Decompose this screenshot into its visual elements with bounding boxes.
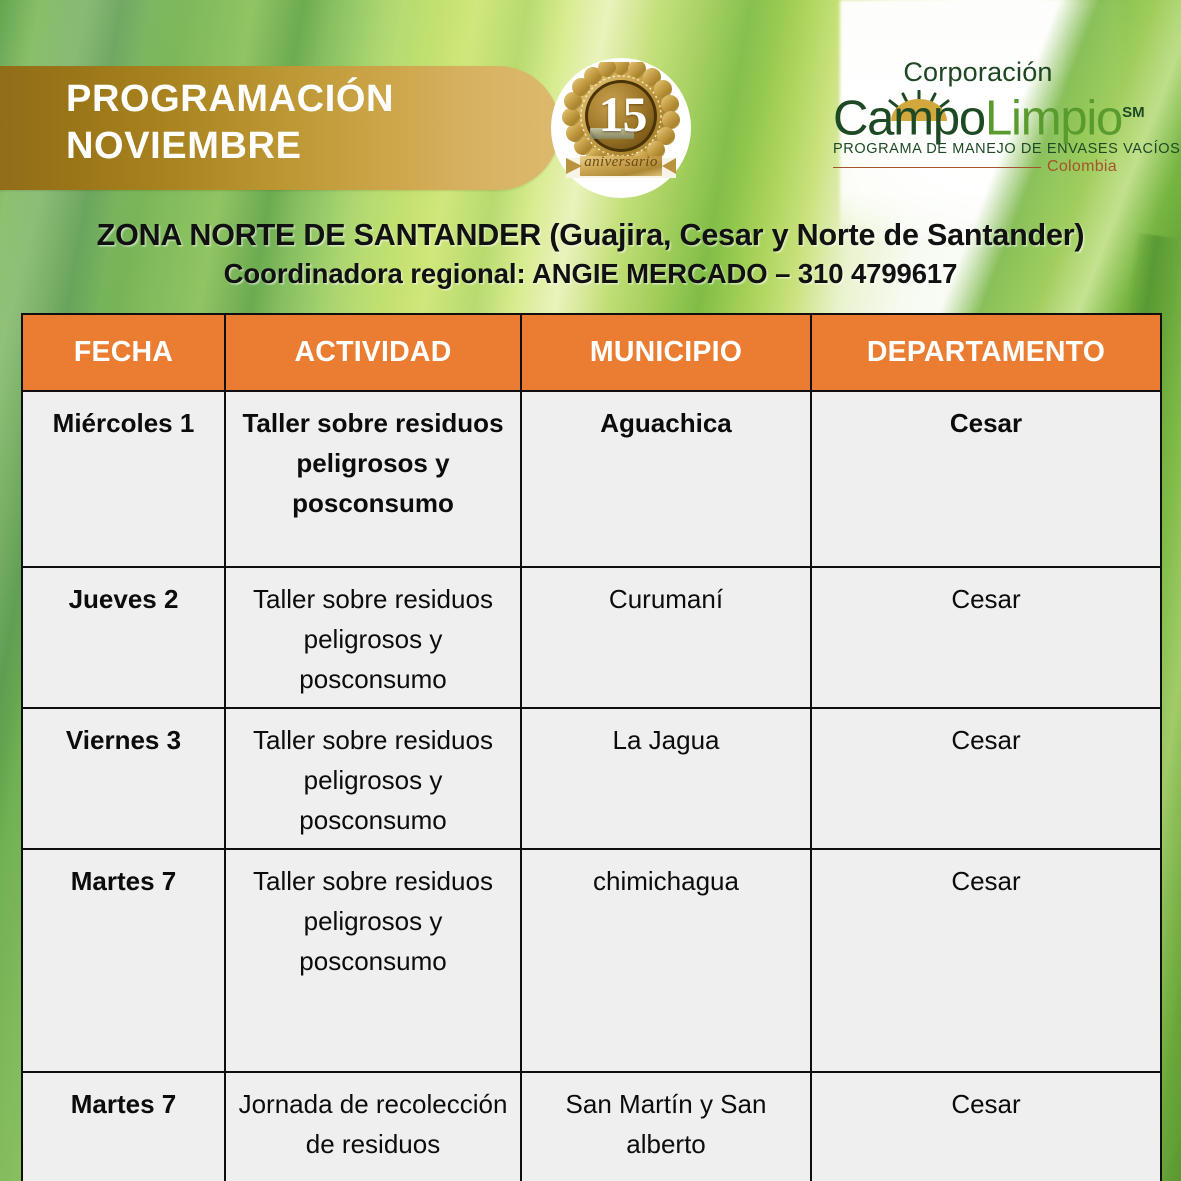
cell-departamento: Cesar [811,1072,1161,1181]
cell-municipio: chimichagua [521,849,811,1072]
cell-actividad: Taller sobre residuos peligrosos y posco… [225,849,521,1072]
page-title-line-1: PROGRAMACIÓN [66,76,536,123]
campolimpio-logo: Corporación CampoLimpioSM PROGRAMA DE MA… [833,58,1123,193]
logo-corporacion-text: Corporación [833,58,1123,86]
programacion-noviembre-poster: PROGRAMACIÓN NOVIEMBRE [0,0,1181,1181]
cell-fecha: Martes 7 [22,849,225,1072]
zone-header: ZONA NORTE DE SANTANDER (Guajira, Cesar … [0,216,1181,293]
cell-actividad: Taller sobre residuos peligrosos y posco… [225,391,521,567]
cell-fecha: Viernes 3 [22,708,225,849]
column-header-departamento[interactable]: DEPARTAMENTO [811,314,1161,391]
cell-departamento: Cesar [811,708,1161,849]
seal-caption: aniversario [558,154,684,171]
logo-country: Colombia [1047,158,1117,176]
table-header-row: FECHA ACTIVIDAD MUNICIPIO DEPARTAMENTO [22,314,1161,391]
cell-municipio: La Jagua [521,708,811,849]
cell-departamento: Cesar [811,567,1161,708]
cell-fecha: Jueves 2 [22,567,225,708]
cell-municipio: Curumaní [521,567,811,708]
page-title: PROGRAMACIÓN NOVIEMBRE [66,76,536,170]
column-header-actividad[interactable]: ACTIVIDAD [225,314,521,391]
logo-country-row: Colombia [833,158,1123,176]
page-title-line-2: NOVIEMBRE [66,123,536,170]
table-row[interactable]: Jueves 2 Taller sobre residuos peligroso… [22,567,1161,708]
cell-actividad: Taller sobre residuos peligrosos y posco… [225,567,521,708]
cell-municipio: Aguachica [521,391,811,567]
logo-trademark: SM [1122,104,1145,121]
cell-fecha: Martes 7 [22,1072,225,1181]
logo-divider [833,167,1041,169]
table-row[interactable]: Martes 7 Taller sobre residuos peligroso… [22,849,1161,1072]
cell-fecha: Miércoles 1 [22,391,225,567]
cell-municipio: San Martín y San alberto [521,1072,811,1181]
table-row[interactable]: Viernes 3 Taller sobre residuos peligros… [22,708,1161,849]
logo-word-campo: Campo [833,91,985,145]
cell-departamento: Cesar [811,391,1161,567]
cell-departamento: Cesar [811,849,1161,1072]
column-header-municipio[interactable]: MUNICIPIO [521,314,811,391]
anniversary-seal: 15 aniversario [558,62,684,192]
cell-actividad: Jornada de recolección de residuos [225,1072,521,1181]
cell-actividad: Taller sobre residuos peligrosos y posco… [225,708,521,849]
logo-word-limpio: Limpio [985,91,1122,145]
coordinator-line: Coordinadora regional: ANGIE MERCADO – 3… [0,255,1181,293]
zone-title: ZONA NORTE DE SANTANDER (Guajira, Cesar … [0,216,1181,255]
logo-wordmark: CampoLimpioSM [833,88,1123,143]
table-row[interactable]: Miércoles 1 Taller sobre residuos peligr… [22,391,1161,567]
schedule-table: FECHA ACTIVIDAD MUNICIPIO DEPARTAMENTO M… [21,313,1162,1181]
table-row[interactable]: Martes 7 Jornada de recolección de resid… [22,1072,1161,1181]
column-header-fecha[interactable]: FECHA [22,314,225,391]
seal-number: 15 [558,62,684,166]
